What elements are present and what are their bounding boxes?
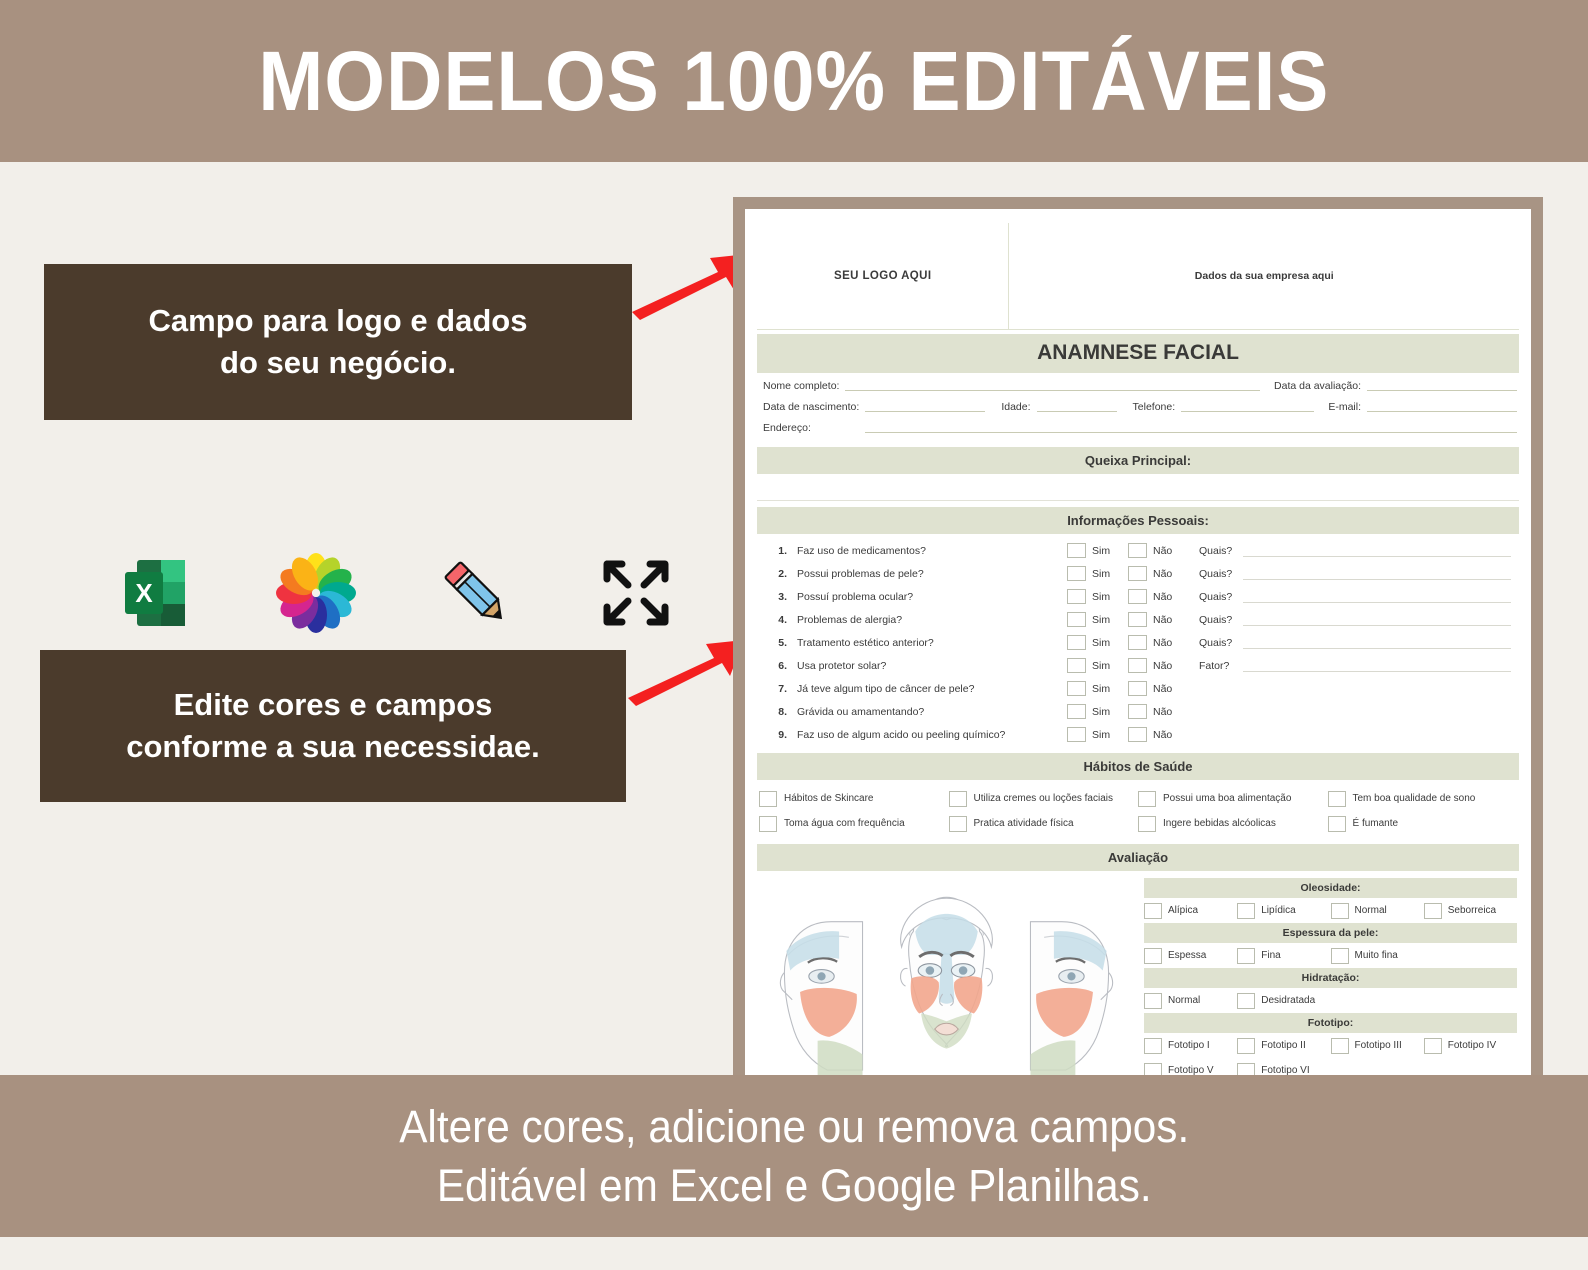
assessment-option[interactable]: Fototipo II	[1237, 1038, 1330, 1054]
assessment-option[interactable]: Alípica	[1144, 903, 1237, 919]
habit-checkbox[interactable]	[949, 791, 967, 807]
question-no-checkbox[interactable]	[1128, 589, 1147, 604]
habit-item[interactable]: Utiliza cremes ou loções faciais	[949, 791, 1139, 807]
endereco-input[interactable]	[865, 421, 1517, 433]
avaliacao-section-header: Avaliação	[757, 844, 1519, 871]
assessment-option-label: Fina	[1261, 950, 1280, 961]
question-text: Possui problemas de pele?	[797, 568, 1067, 580]
question-row: 1.Faz uso de medicamentos?SimNãoQuais?	[761, 539, 1517, 562]
question-yes-checkbox[interactable]	[1067, 612, 1086, 627]
habit-checkbox[interactable]	[1138, 816, 1156, 832]
question-no-label: Não	[1153, 637, 1189, 649]
question-no-label: Não	[1153, 545, 1189, 557]
telefone-input[interactable]	[1181, 400, 1314, 412]
edit-callout-line2: conforme a sua necessidae.	[126, 726, 540, 768]
queixa-input[interactable]	[757, 474, 1519, 501]
assessment-checkbox[interactable]	[1144, 993, 1162, 1009]
habit-checkbox[interactable]	[949, 816, 967, 832]
assessment-checkbox[interactable]	[1237, 1038, 1255, 1054]
question-yes-checkbox[interactable]	[1067, 543, 1086, 558]
arrow-to-questions-icon	[626, 636, 746, 711]
habit-item[interactable]: Toma água com frequência	[759, 816, 949, 832]
question-number: 8.	[761, 706, 797, 718]
logo-field[interactable]: SEU LOGO AQUI	[757, 223, 1009, 329]
question-text: Grávida ou amamentando?	[797, 706, 1067, 718]
assessment-option-label: Fototipo III	[1355, 1040, 1402, 1051]
assessment-group-header: Oleosidade:	[1144, 878, 1517, 898]
assessment-option-label: Normal	[1168, 995, 1200, 1006]
question-row: 4.Problemas de alergia?SimNãoQuais?	[761, 608, 1517, 631]
question-yes-checkbox[interactable]	[1067, 589, 1086, 604]
assessment-checkbox[interactable]	[1331, 1038, 1349, 1054]
company-data-field[interactable]: Dados da sua empresa aqui	[1009, 223, 1519, 329]
question-no-label: Não	[1153, 614, 1189, 626]
identification-block: Nome completo: Data da avaliação: Data d…	[757, 373, 1519, 444]
question-extra-spacer	[1243, 729, 1511, 740]
expand-arrows-icon	[595, 552, 677, 634]
question-extra-label: Quais?	[1199, 614, 1243, 626]
question-no-checkbox[interactable]	[1128, 727, 1147, 742]
assessment-option-label: Fototipo IV	[1448, 1040, 1496, 1051]
question-yes-checkbox[interactable]	[1067, 727, 1086, 742]
question-row: 3.Possuí problema ocular?SimNãoQuais?	[761, 585, 1517, 608]
question-text: Tratamento estético anterior?	[797, 637, 1067, 649]
assessment-checkbox[interactable]	[1144, 903, 1162, 919]
logo-placeholder-text: SEU LOGO AQUI	[834, 270, 931, 282]
question-no-label: Não	[1153, 729, 1189, 741]
question-no-label: Não	[1153, 591, 1189, 603]
question-number: 5.	[761, 637, 797, 649]
assessment-checkbox[interactable]	[1144, 948, 1162, 964]
id-row-endereco: Endereço:	[763, 421, 1517, 433]
question-yes-label: Sim	[1092, 660, 1128, 672]
question-row: 6.Usa protetor solar?SimNãoFator?	[761, 654, 1517, 677]
assessment-checkbox[interactable]	[1331, 948, 1349, 964]
assessment-option-label: Muito fina	[1355, 950, 1398, 961]
assessment-option-label: Fototipo I	[1168, 1040, 1210, 1051]
assessment-option-label: Lipídica	[1261, 905, 1295, 916]
question-text: Possuí problema ocular?	[797, 591, 1067, 603]
assessment-checkbox[interactable]	[1424, 1038, 1442, 1054]
telefone-label: Telefone:	[1133, 402, 1176, 413]
question-yes-checkbox[interactable]	[1067, 681, 1086, 696]
info-section-header: Informações Pessoais:	[757, 507, 1519, 534]
top-banner: MODELOS 100% EDITÁVEIS	[0, 0, 1588, 162]
assessment-group-header: Espessura da pele:	[1144, 923, 1517, 943]
assessment-option-row: Fototipo IFototipo IIFototipo IIIFototip…	[1144, 1033, 1517, 1058]
habit-label: Toma água com frequência	[784, 818, 905, 829]
id-row-nome: Nome completo: Data da avaliação:	[763, 379, 1517, 391]
question-no-label: Não	[1153, 660, 1189, 672]
edit-callout-line1: Edite cores e campos	[174, 684, 493, 726]
habit-item[interactable]: Tem boa qualidade de sono	[1328, 791, 1518, 807]
feature-icon-row: X	[115, 550, 535, 636]
question-yes-label: Sim	[1092, 683, 1128, 695]
logo-callout-line2: do seu negócio.	[220, 342, 456, 384]
question-text: Já teve algum tipo de câncer de pele?	[797, 683, 1067, 695]
habit-checkbox[interactable]	[1328, 816, 1346, 832]
question-no-label: Não	[1153, 683, 1189, 695]
habit-label: Utiliza cremes ou loções faciais	[974, 793, 1114, 804]
svg-text:X: X	[135, 578, 153, 608]
assessment-option[interactable]: Normal	[1331, 903, 1424, 919]
face-diagram	[757, 876, 1138, 1099]
question-row: 2.Possui problemas de pele?SimNãoQuais?	[761, 562, 1517, 585]
question-yes-checkbox[interactable]	[1067, 635, 1086, 650]
question-text: Faz uso de medicamentos?	[797, 545, 1067, 557]
question-extra-label: Quais?	[1199, 568, 1243, 580]
question-yes-label: Sim	[1092, 729, 1128, 741]
assessment-checkbox[interactable]	[1237, 903, 1255, 919]
top-banner-title: MODELOS 100% EDITÁVEIS	[258, 39, 1329, 123]
question-row: 8.Grávida ou amamentando?SimNão	[761, 700, 1517, 723]
habit-label: Tem boa qualidade de sono	[1353, 793, 1476, 804]
question-extra-label: Quais?	[1199, 545, 1243, 557]
question-no-checkbox[interactable]	[1128, 612, 1147, 627]
assessment-option-label: Alípica	[1168, 905, 1198, 916]
question-number: 1.	[761, 545, 797, 557]
nome-input[interactable]	[845, 379, 1260, 391]
assessment-group-header: Hidratação:	[1144, 968, 1517, 988]
question-number: 9.	[761, 729, 797, 741]
habit-checkbox[interactable]	[759, 791, 777, 807]
assessment-checkbox[interactable]	[1237, 948, 1255, 964]
question-no-label: Não	[1153, 568, 1189, 580]
bottom-banner-line2: Editável em Excel e Google Planilhas.	[437, 1156, 1152, 1215]
habits-list: Hábitos de SkincareUtiliza cremes ou loç…	[757, 780, 1519, 841]
question-yes-label: Sim	[1092, 614, 1128, 626]
question-number: 7.	[761, 683, 797, 695]
assessment-option-label: Fototipo II	[1261, 1040, 1305, 1051]
habit-item[interactable]: Pratica atividade física	[949, 816, 1139, 832]
assessment-option-row: AlípicaLipídicaNormalSeborreica	[1144, 898, 1517, 923]
question-text: Usa protetor solar?	[797, 660, 1067, 672]
question-number: 3.	[761, 591, 797, 603]
question-yes-checkbox[interactable]	[1067, 658, 1086, 673]
question-extra-input[interactable]	[1243, 591, 1511, 603]
logo-callout: Campo para logo e dados do seu negócio.	[44, 264, 632, 420]
assessment-option[interactable]: Lipídica	[1237, 903, 1330, 919]
assessment-option[interactable]: Normal	[1144, 993, 1237, 1009]
excel-icon: X	[115, 552, 197, 634]
question-extra-label: Quais?	[1199, 591, 1243, 603]
habits-row: Hábitos de SkincareUtiliza cremes ou loç…	[759, 786, 1517, 811]
assessment-option-label: Normal	[1355, 905, 1387, 916]
document-page: SEU LOGO AQUI Dados da sua empresa aqui …	[745, 209, 1531, 1075]
assessment-option[interactable]: Muito fina	[1331, 948, 1424, 964]
assessment-option-label: Espessa	[1168, 950, 1206, 961]
question-yes-checkbox[interactable]	[1067, 566, 1086, 581]
assessment-group-header: Fototipo:	[1144, 1013, 1517, 1033]
question-no-checkbox[interactable]	[1128, 681, 1147, 696]
assessment-option[interactable]: Fina	[1237, 948, 1330, 964]
assessment-option-row: NormalDesidratada	[1144, 988, 1517, 1013]
logo-callout-line1: Campo para logo e dados	[149, 300, 528, 342]
company-placeholder-text: Dados da sua empresa aqui	[1195, 270, 1334, 282]
assessment-checkbox[interactable]	[1237, 993, 1255, 1009]
question-extra-label: Fator?	[1199, 660, 1243, 672]
question-row: 9.Faz uso de algum acido ou peeling quím…	[761, 723, 1517, 746]
queixa-section-header: Queixa Principal:	[757, 447, 1519, 474]
nascimento-input[interactable]	[865, 400, 985, 412]
questions-list: 1.Faz uso de medicamentos?SimNãoQuais?2.…	[757, 534, 1519, 750]
question-yes-checkbox[interactable]	[1067, 704, 1086, 719]
question-yes-label: Sim	[1092, 591, 1128, 603]
question-extra-label: Quais?	[1199, 637, 1243, 649]
form-title: ANAMNESE FACIAL	[757, 334, 1519, 373]
habit-label: Ingere bebidas alcóolicas	[1163, 818, 1276, 829]
data-avaliacao-input[interactable]	[1367, 379, 1517, 391]
question-row: 7.Já teve algum tipo de câncer de pele?S…	[761, 677, 1517, 700]
question-number: 6.	[761, 660, 797, 672]
data-avaliacao-label: Data da avaliação:	[1274, 381, 1361, 392]
email-input[interactable]	[1367, 400, 1517, 412]
habit-checkbox[interactable]	[1328, 791, 1346, 807]
question-extra-input[interactable]	[1243, 545, 1511, 557]
question-no-checkbox[interactable]	[1128, 635, 1147, 650]
assessment-options: Oleosidade:AlípicaLipídicaNormalSeborrei…	[1138, 876, 1519, 1099]
bottom-banner: Altere cores, adicione ou remova campos.…	[0, 1075, 1588, 1237]
question-extra-input[interactable]	[1243, 614, 1511, 626]
question-yes-label: Sim	[1092, 637, 1128, 649]
assessment-option-label: Desidratada	[1261, 995, 1315, 1006]
email-label: E-mail:	[1328, 402, 1361, 413]
question-yes-label: Sim	[1092, 706, 1128, 718]
question-no-checkbox[interactable]	[1128, 543, 1147, 558]
habits-row: Toma água com frequênciaPratica atividad…	[759, 811, 1517, 836]
habit-checkbox[interactable]	[759, 816, 777, 832]
idade-input[interactable]	[1037, 400, 1117, 412]
question-extra-spacer	[1243, 683, 1511, 694]
question-yes-label: Sim	[1092, 545, 1128, 557]
question-text: Faz uso de algum acido ou peeling químic…	[797, 729, 1067, 741]
assessment-option[interactable]: Espessa	[1144, 948, 1237, 964]
question-number: 2.	[761, 568, 797, 580]
habit-item[interactable]: Ingere bebidas alcóolicas	[1138, 816, 1328, 832]
question-extra-input[interactable]	[1243, 637, 1511, 649]
habit-label: É fumante	[1353, 818, 1399, 829]
document-header: SEU LOGO AQUI Dados da sua empresa aqui	[757, 223, 1519, 330]
avaliacao-body: Oleosidade:AlípicaLipídicaNormalSeborrei…	[757, 876, 1519, 1099]
endereco-label: Endereço:	[763, 423, 811, 434]
idade-label: Idade:	[1001, 402, 1030, 413]
edit-callout: Edite cores e campos conforme a sua nece…	[40, 650, 626, 802]
color-wheel-icon	[275, 552, 357, 634]
assessment-checkbox[interactable]	[1144, 1038, 1162, 1054]
assessment-option-label: Seborreica	[1448, 905, 1496, 916]
arrow-to-header-icon	[630, 250, 750, 325]
assessment-option[interactable]: Seborreica	[1424, 903, 1517, 919]
question-extra-input[interactable]	[1243, 568, 1511, 580]
assessment-checkbox[interactable]	[1331, 903, 1349, 919]
habit-label: Possui uma boa alimentação	[1163, 793, 1291, 804]
question-text: Problemas de alergia?	[797, 614, 1067, 626]
habits-section-header: Hábitos de Saúde	[757, 753, 1519, 780]
habit-label: Hábitos de Skincare	[784, 793, 874, 804]
bottom-banner-line1: Altere cores, adicione ou remova campos.	[399, 1097, 1189, 1156]
assessment-option-row: EspessaFinaMuito fina	[1144, 943, 1517, 968]
question-no-checkbox[interactable]	[1128, 704, 1147, 719]
assessment-option[interactable]: Fototipo IV	[1424, 1038, 1517, 1054]
habit-item[interactable]: Hábitos de Skincare	[759, 791, 949, 807]
nascimento-label: Data de nascimento:	[763, 402, 859, 413]
question-extra-input[interactable]	[1243, 660, 1511, 672]
habit-checkbox[interactable]	[1138, 791, 1156, 807]
question-no-checkbox[interactable]	[1128, 566, 1147, 581]
document-frame: SEU LOGO AQUI Dados da sua empresa aqui …	[733, 197, 1543, 1075]
assessment-option[interactable]: Fototipo I	[1144, 1038, 1237, 1054]
assessment-option[interactable]: Desidratada	[1237, 993, 1330, 1009]
question-no-label: Não	[1153, 706, 1189, 718]
id-row-nascimento: Data de nascimento: Idade: Telefone: E-m…	[763, 400, 1517, 412]
nome-label: Nome completo:	[763, 381, 839, 392]
question-extra-spacer	[1243, 706, 1511, 717]
habit-label: Pratica atividade física	[974, 818, 1074, 829]
pencil-icon	[435, 552, 517, 634]
assessment-checkbox[interactable]	[1424, 903, 1442, 919]
question-yes-label: Sim	[1092, 568, 1128, 580]
habit-item[interactable]: Possui uma boa alimentação	[1138, 791, 1328, 807]
question-number: 4.	[761, 614, 797, 626]
assessment-option[interactable]: Fototipo III	[1331, 1038, 1424, 1054]
habit-item[interactable]: É fumante	[1328, 816, 1518, 832]
question-row: 5.Tratamento estético anterior?SimNãoQua…	[761, 631, 1517, 654]
question-no-checkbox[interactable]	[1128, 658, 1147, 673]
